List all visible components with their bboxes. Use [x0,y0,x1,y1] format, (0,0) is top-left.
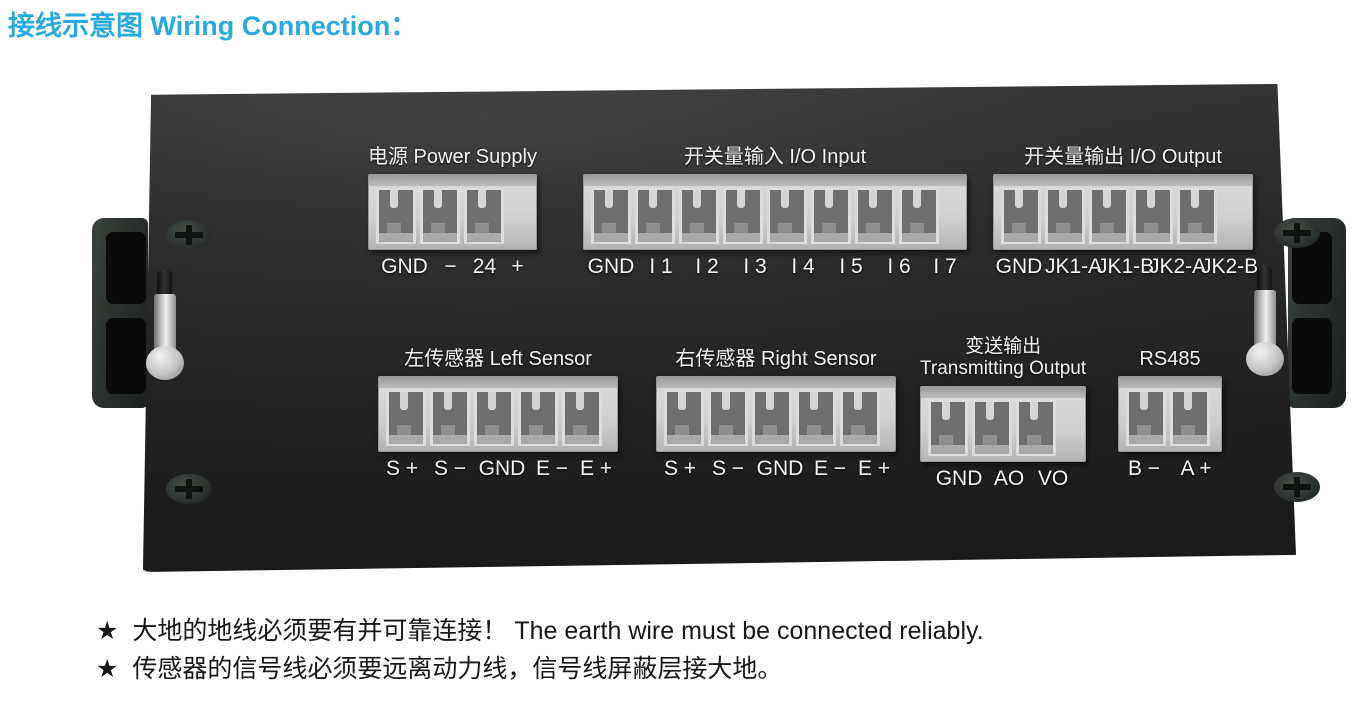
terminal-slot[interactable] [972,400,1012,456]
terminal-slot[interactable] [635,188,675,244]
caption-line: 开关量输入 I/O Input [583,146,967,168]
note-item: ★ 大地的地线必须要有并可靠连接！ The earth wire must be… [96,612,1296,650]
terminal-slot[interactable] [1001,188,1041,244]
pin-label: A + [1170,457,1222,481]
pin-label: GND [583,255,639,279]
terminal-slot[interactable] [679,188,719,244]
screw-icon [1274,472,1320,502]
caption-line: Transmitting Output [920,358,1086,380]
terminal-slot[interactable] [1133,188,1173,244]
terminal-group-power-supply: 电源 Power SupplyGND−24+ [368,146,537,279]
terminal-slot[interactable] [899,188,939,244]
pin-label-row: B −A + [1118,457,1222,481]
pin-label: B − [1118,457,1170,481]
connector-block[interactable] [368,174,537,250]
terminal-slot[interactable] [1170,390,1210,446]
terminal-slot[interactable] [430,390,470,446]
terminal-slot[interactable] [928,400,968,456]
note-item: ★ 传感器的信号线必须要远离动力线，信号线屏蔽层接大地。 [96,650,1296,688]
pin-label: GND [993,255,1045,279]
terminal-slot[interactable] [1089,188,1129,244]
terminal-group-caption: 左传感器 Left Sensor [378,348,618,370]
screw-icon [1274,218,1320,248]
terminal-group-io-output: 开关量输出 I/O OutputGNDJK1-AJK1-BJK2-AJK2-B [993,146,1253,279]
pin-label: S − [704,457,752,481]
stud-head [146,346,184,380]
pin-label: I 6 [875,255,923,279]
terminal-group-caption: 开关量输出 I/O Output [993,146,1253,168]
terminal-slot[interactable] [767,188,807,244]
pin-label: I 7 [923,255,967,279]
star-icon: ★ [96,612,118,650]
connector-block[interactable] [583,174,967,250]
terminal-slot[interactable] [752,390,792,446]
screw-icon [166,474,212,504]
pin-label: S − [426,457,474,481]
pin-label: GND [931,467,987,491]
pin-label: JK1-A [1045,255,1097,279]
terminal-group-transmitting-output: 变送输出Transmitting OutputGNDAOVO [920,336,1086,491]
pin-label: GND [752,457,808,481]
pin-label-row: GND−24+ [368,255,537,279]
bracket-slot [106,232,146,304]
terminal-slot[interactable] [708,390,748,446]
caption-line: 电源 Power Supply [368,146,537,168]
connector-block[interactable] [920,386,1086,462]
pin-label: − [435,255,465,279]
star-icon: ★ [96,650,118,688]
pin-label-row: GNDJK1-AJK1-BJK2-AJK2-B [993,255,1253,279]
terminal-slot[interactable] [1177,188,1217,244]
terminal-slot[interactable] [840,390,880,446]
terminal-slot[interactable] [664,390,704,446]
bracket-slot [106,318,146,394]
note-text: 大地的地线必须要有并可靠连接！ The earth wire must be c… [132,612,983,650]
pin-label: I 1 [639,255,683,279]
caption-line: 变送输出 [920,336,1086,358]
terminal-slot[interactable] [591,188,631,244]
pin-label: AO [987,467,1031,491]
pin-label: S + [378,457,426,481]
bracket-slot [1292,318,1332,394]
terminal-group-rs485: RS485B −A + [1118,348,1222,481]
pin-label: JK2-B [1201,255,1253,279]
terminal-slot[interactable] [1045,188,1085,244]
pin-label: I 2 [683,255,731,279]
terminal-slot[interactable] [464,188,504,244]
terminal-group-io-input: 开关量输入 I/O InputGNDI 1I 2I 3I 4I 5I 6I 7 [583,146,967,279]
terminal-slot[interactable] [796,390,836,446]
pin-label: E + [852,457,896,481]
caption-line: 右传感器 Right Sensor [656,348,896,370]
caption-line: 左传感器 Left Sensor [378,348,618,370]
stud-head [1246,342,1284,376]
terminal-group-left-sensor: 左传感器 Left SensorS +S −GNDE −E + [378,348,618,481]
terminal-group-caption: 变送输出Transmitting Output [920,336,1086,380]
connector-block[interactable] [378,376,618,452]
terminal-group-caption: RS485 [1118,348,1222,370]
notes-list: ★ 大地的地线必须要有并可靠连接！ The earth wire must be… [96,612,1296,688]
terminal-slot[interactable] [855,188,895,244]
device-faceplate-photo: 电源 Power SupplyGND−24+ 开关量输入 I/O InputGN… [88,78,1350,578]
pin-label: GND [474,457,530,481]
terminal-slot[interactable] [518,390,558,446]
pin-label: + [503,255,531,279]
terminal-group-caption: 开关量输入 I/O Input [583,146,967,168]
pin-label: E − [808,457,852,481]
pin-label: E − [530,457,574,481]
pin-label: S + [656,457,704,481]
page-title: 接线示意图 Wiring Connection： [8,4,417,43]
mounting-bracket-left [92,218,148,408]
terminal-slot[interactable] [420,188,460,244]
screw-icon [166,220,212,250]
terminal-group-caption: 电源 Power Supply [368,146,537,168]
pin-label: VO [1031,467,1075,491]
pin-label-row: S +S −GNDE −E + [378,457,618,481]
terminal-group-caption: 右传感器 Right Sensor [656,348,896,370]
terminal-slot[interactable] [386,390,426,446]
pin-label: I 5 [827,255,875,279]
pin-label-row: GNDI 1I 2I 3I 4I 5I 6I 7 [583,255,967,279]
pin-label: I 4 [779,255,827,279]
connector-block[interactable] [1118,376,1222,452]
terminal-group-right-sensor: 右传感器 Right SensorS +S −GNDE −E + [656,348,896,481]
caption-line: 开关量输出 I/O Output [993,146,1253,168]
terminal-slot[interactable] [1016,400,1056,456]
terminal-slot[interactable] [811,188,851,244]
connector-block[interactable] [656,376,896,452]
terminal-slot[interactable] [562,390,602,446]
terminal-slot[interactable] [376,188,416,244]
pin-label: 24 [465,255,503,279]
pin-label: JK2-A [1149,255,1201,279]
pin-label: JK1-B [1097,255,1149,279]
caption-line: RS485 [1118,348,1222,370]
connector-block[interactable] [993,174,1253,250]
terminal-slot[interactable] [723,188,763,244]
pin-label: GND [373,255,435,279]
terminal-slot[interactable] [1126,390,1166,446]
pin-label-row: S +S −GNDE −E + [656,457,896,481]
terminal-slot[interactable] [474,390,514,446]
pin-label-row: GNDAOVO [920,467,1086,491]
pin-label: E + [574,457,618,481]
note-text: 传感器的信号线必须要远离动力线，信号线屏蔽层接大地。 [132,650,782,688]
pin-label: I 3 [731,255,779,279]
